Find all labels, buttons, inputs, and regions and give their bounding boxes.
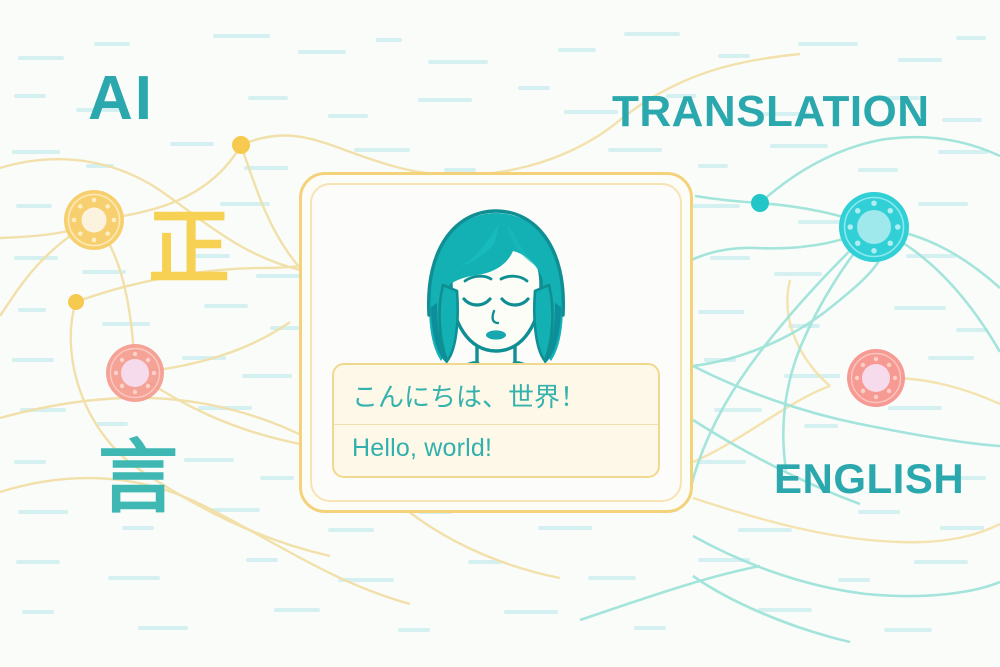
illustration-canvas: AI TRANSLATION ENGLISH 正 言 bbox=[0, 0, 1000, 667]
label-english: ENGLISH bbox=[774, 458, 964, 500]
translation-card-inner: こんにちは、世界！ Hello, world! bbox=[310, 183, 682, 502]
node-pink-ring-left bbox=[106, 344, 164, 402]
node-cyan-ring-right bbox=[839, 192, 909, 262]
subtitle-source-text: こんにちは、世界！ bbox=[334, 368, 658, 425]
label-translation: TRANSLATION bbox=[612, 90, 930, 134]
glyph-sei-character: 正 bbox=[148, 208, 230, 290]
glyph-gen-character: 言 bbox=[98, 438, 178, 518]
node-pink-ring-right bbox=[847, 349, 905, 407]
subtitle-panel: こんにちは、世界！ Hello, world! bbox=[332, 363, 660, 478]
node-yellow-dot-top bbox=[232, 136, 250, 154]
node-yellow-ring-left bbox=[64, 190, 124, 250]
node-teal-dot-right bbox=[751, 194, 769, 212]
label-ai: AI bbox=[88, 68, 154, 130]
translation-card: こんにちは、世界！ Hello, world! bbox=[299, 172, 693, 513]
node-yellow-dot-lower bbox=[68, 294, 84, 310]
subtitle-target-text: Hello, world! bbox=[334, 425, 658, 473]
